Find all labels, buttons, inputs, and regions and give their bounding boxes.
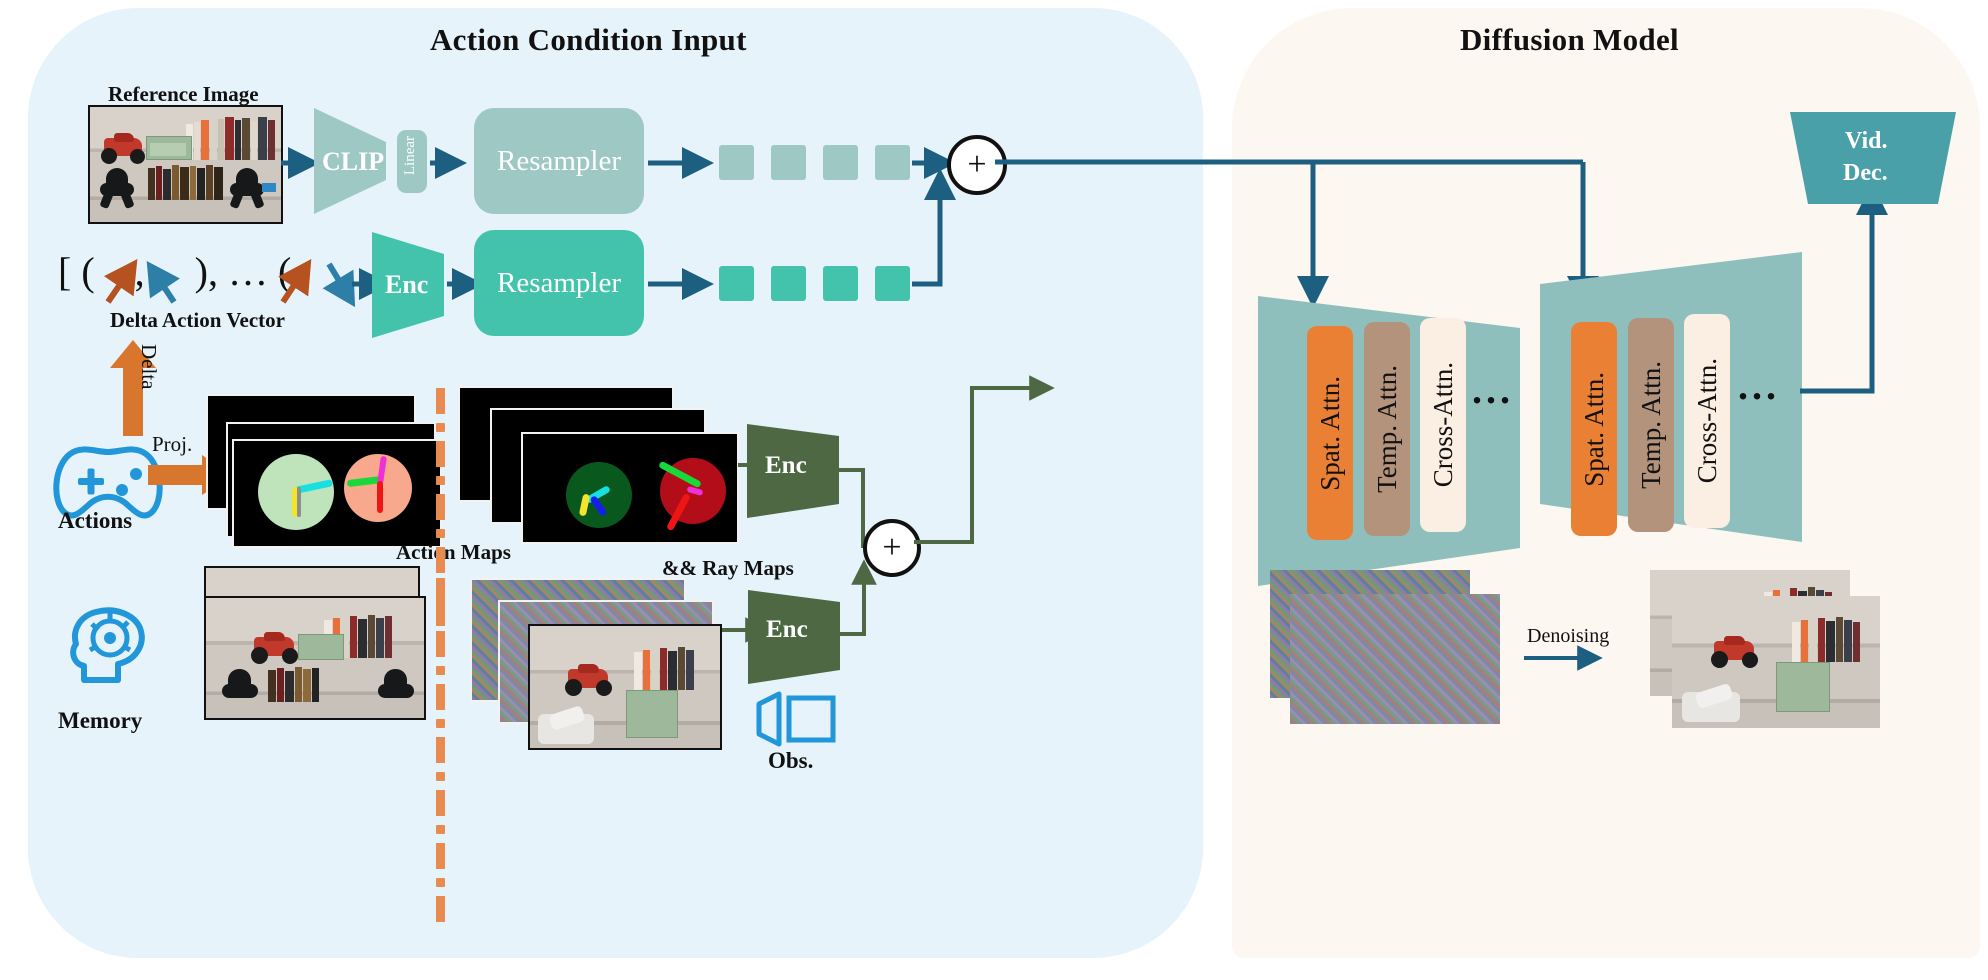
unet2-cross-attn-bar: Cross-Attn. xyxy=(1684,314,1730,528)
unet2-temporal-attn-bar: Temp. Attn. xyxy=(1628,318,1674,532)
arrow-denoising xyxy=(1524,650,1624,670)
unet1-cross-attn-bar: Cross-Attn. xyxy=(1420,318,1466,532)
proj-label: Proj. xyxy=(152,432,192,457)
action-map-stick-grey xyxy=(297,487,301,517)
obs-label: Obs. xyxy=(768,748,813,774)
actions-label: Actions xyxy=(58,508,132,534)
unet2-temporal-attn-label: Temp. Attn. xyxy=(1636,361,1667,489)
unet1-temporal-attn-label: Temp. Attn. xyxy=(1372,365,1403,493)
ray-map-card-front xyxy=(521,432,739,544)
enc-action-label: Enc xyxy=(385,270,428,300)
unet2-spatial-attn-bar: Spat. Attn. xyxy=(1571,322,1617,536)
unet1-spatial-attn-bar: Spat. Attn. xyxy=(1307,326,1353,540)
denoising-label: Denoising xyxy=(1527,625,1609,648)
reference-image-label: Reference Image xyxy=(108,82,259,107)
unet1-temporal-attn-bar: Temp. Attn. xyxy=(1364,322,1410,536)
action-maps-caption: Action Maps xyxy=(396,540,511,565)
unet1-cross-attn-label: Cross-Attn. xyxy=(1428,362,1459,487)
enc-raymap-label: Enc xyxy=(765,452,807,480)
memory-label: Memory xyxy=(58,708,142,734)
denoise-input-frame-front xyxy=(1290,594,1500,724)
image-token-4 xyxy=(875,145,910,180)
action-map-stick-red xyxy=(377,481,383,513)
unet2-spatial-attn-label: Spat. Attn. xyxy=(1579,372,1610,487)
resampler-action-block: Resampler xyxy=(474,230,644,336)
divider-dashdot-lower xyxy=(436,578,445,931)
memory-brain-icon xyxy=(66,602,158,688)
elbow-obs-enc-to-sum xyxy=(840,550,960,640)
arrow-unet-to-video-decoder xyxy=(1800,175,1960,405)
clip-label: CLIP xyxy=(322,147,384,177)
arrow-resampler-to-tokens-top xyxy=(648,153,720,173)
unet1-ellipsis: ... xyxy=(1472,366,1514,413)
resampler-image-block: Resampler xyxy=(474,108,644,214)
action-token-2 xyxy=(771,266,806,301)
image-token-3 xyxy=(823,145,858,180)
action-token-4 xyxy=(875,266,910,301)
video-decoder-line2: Dec. xyxy=(1843,160,1888,187)
denoise-output-frame-front xyxy=(1672,596,1880,728)
delta-arrow-label: Delta xyxy=(136,344,161,389)
noisy-frame-front xyxy=(528,624,722,750)
memory-frame-front xyxy=(204,596,426,720)
panel-title-left: Action Condition Input xyxy=(430,22,747,58)
reference-image-thumbnail xyxy=(88,105,283,224)
image-token-1 xyxy=(719,145,754,180)
video-decoder-line1: Vid. xyxy=(1845,128,1887,155)
arrow-linear-to-resampler xyxy=(430,153,474,173)
image-token-2 xyxy=(771,145,806,180)
action-map-card-front xyxy=(232,439,442,548)
linear-label: Linear xyxy=(402,136,419,175)
video-decoder-shape xyxy=(1790,112,1956,204)
panel-title-right: Diffusion Model xyxy=(1460,22,1679,58)
unet1-spatial-attn-label: Spat. Attn. xyxy=(1315,376,1346,491)
delta-action-vector-caption: Delta Action Vector xyxy=(110,308,285,333)
action-token-1 xyxy=(719,266,754,301)
unet2-cross-attn-label: Cross-Attn. xyxy=(1692,358,1723,483)
camera-obs-icon xyxy=(757,690,837,748)
unet2-ellipsis: ... xyxy=(1738,362,1780,409)
linear-block: Linear xyxy=(397,130,427,193)
action-token-3 xyxy=(823,266,858,301)
arrow-resampler-to-tokens-bottom xyxy=(648,274,720,294)
enc-memory-label: Enc xyxy=(766,616,808,644)
